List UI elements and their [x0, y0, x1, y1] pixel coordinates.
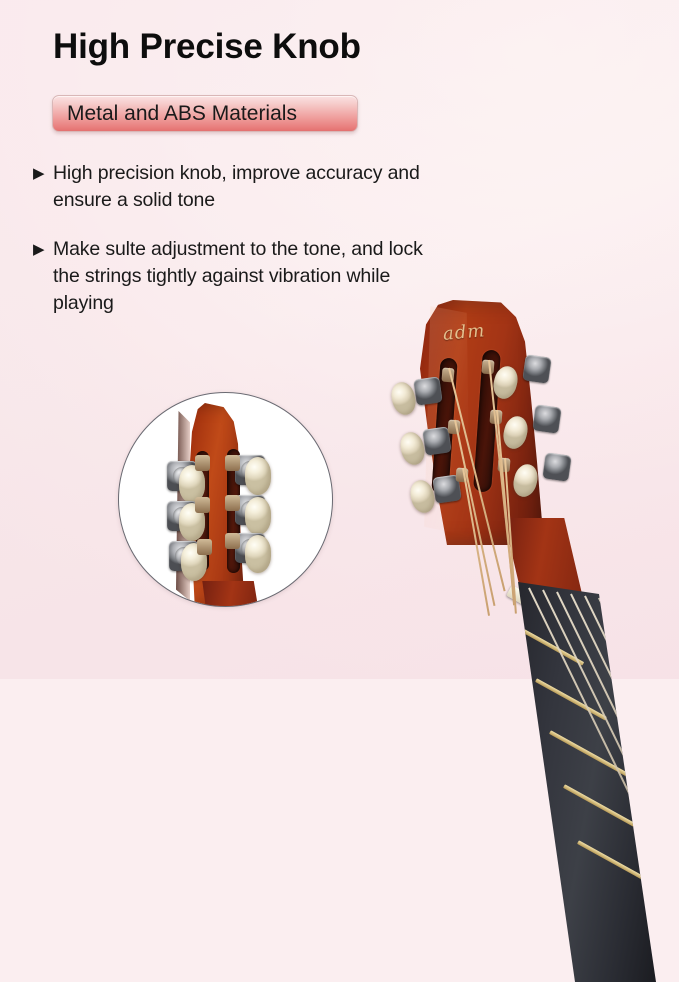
fretboard-string-2: [542, 590, 679, 896]
inset-neck: [197, 581, 263, 607]
inset-tuner-post-3: [197, 539, 212, 555]
inset-tuner-knob-4: [245, 457, 271, 495]
feature-bullet-list: ▶ High precision knob, improve accuracy …: [33, 160, 453, 339]
inset-tuner-post-2: [195, 497, 210, 513]
fret-1: [521, 628, 584, 665]
tuner-gear-5: [532, 404, 561, 433]
guitar-fretboard: [506, 582, 656, 982]
feature-bullet-text: Make sulte adjustment to the tone, and l…: [53, 236, 453, 317]
magnified-detail-inset: [118, 392, 333, 607]
list-item: ▶ High precision knob, improve accuracy …: [33, 160, 453, 214]
product-headstock-image: adm: [380, 282, 679, 679]
inset-image: [119, 393, 332, 606]
inset-tuner-knob-6: [245, 535, 271, 573]
inset-tuner-post-1: [195, 455, 210, 471]
triangle-right-icon: ▶: [33, 236, 53, 317]
inset-tuner-post-5: [225, 495, 240, 511]
triangle-right-icon: ▶: [33, 160, 53, 214]
fretboard-string-4: [570, 594, 679, 900]
subtitle-badge-label: Metal and ABS Materials: [67, 102, 297, 126]
fret-4: [563, 784, 649, 834]
list-item: ▶ Make sulte adjustment to the tone, and…: [33, 236, 453, 317]
feature-bullet-text: High precision knob, improve accuracy an…: [53, 160, 453, 214]
page-title: High Precise Knob: [53, 27, 361, 67]
subtitle-badge: Metal and ABS Materials: [52, 95, 358, 132]
fret-5: [577, 840, 670, 894]
tuner-gear-6: [542, 452, 571, 481]
inset-tuner-post-4: [225, 455, 240, 471]
inset-tuner-knob-5: [245, 497, 271, 535]
tuner-gear-1: [413, 376, 442, 405]
tuner-gear-4: [522, 354, 551, 383]
inset-tuner-post-6: [225, 533, 240, 549]
